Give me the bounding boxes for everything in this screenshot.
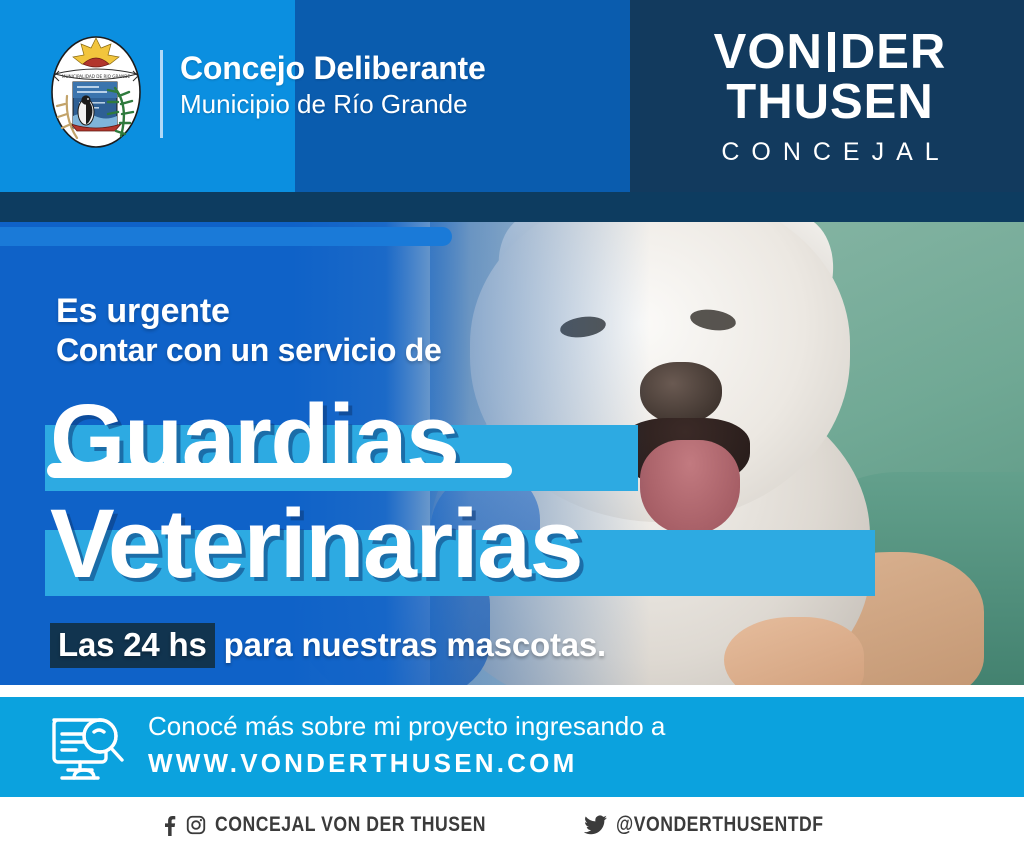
- brand-logo: VONDER THUSEN CONCEJAL: [665, 28, 995, 167]
- header-subtitle: Municipio de Río Grande: [180, 90, 610, 120]
- hero-subline-highlight: Las 24 hs: [50, 623, 215, 668]
- header-bottom-strip: [0, 192, 1024, 222]
- footer-white-divider-bar: [47, 463, 512, 478]
- monitor-search-icon: [48, 708, 128, 786]
- brand-line-3: CONCEJAL: [665, 138, 995, 167]
- social-handle-facebook-instagram[interactable]: CONCEJAL VON DER THUSEN: [215, 813, 486, 837]
- cta-text-block: Conocé más sobre mi proyecto ingresando …: [148, 711, 665, 779]
- social-group-facebook-instagram[interactable]: CONCEJAL VON DER THUSEN: [161, 813, 538, 837]
- cta-line-1: Conocé más sobre mi proyecto ingresando …: [148, 711, 665, 742]
- photo-dog-tongue: [640, 440, 740, 535]
- header-title: Concejo Deliberante: [180, 52, 610, 86]
- facebook-icon[interactable]: [161, 814, 177, 836]
- header-titles: Concejo Deliberante Municipio de Río Gra…: [180, 52, 610, 119]
- social-group-twitter[interactable]: @VONDERTHUSENTDF: [583, 813, 863, 837]
- photo-dog-nose: [640, 362, 722, 424]
- social-handle-twitter[interactable]: @VONDERTHUSENTDF: [616, 813, 824, 837]
- header-bar: MUNICIPALIDAD DE RIO GRANDE: [0, 0, 1024, 205]
- cta-website-url[interactable]: WWW.VONDERTHUSEN.COM: [148, 748, 665, 779]
- brand-von: VON: [714, 25, 823, 79]
- instagram-icon[interactable]: [185, 814, 207, 836]
- rio-grande-coat-of-arms-icon: MUNICIPALIDAD DE RIO GRANDE: [45, 30, 147, 150]
- photo-vet-hand: [724, 617, 864, 685]
- brand-divider-bar: [828, 32, 835, 72]
- social-bar: CONCEJAL VON DER THUSEN @VONDERTHUSENTDF: [0, 797, 1024, 853]
- brand-line-2: THUSEN: [665, 78, 995, 128]
- header-divider: [160, 50, 163, 138]
- hero-kicker: Es urgente: [56, 294, 230, 329]
- hero-accent-bar: [0, 227, 452, 246]
- poster-canvas: MUNICIPALIDAD DE RIO GRANDE: [0, 0, 1024, 853]
- hero-subline: Las 24 hs para nuestras mascotas.: [50, 626, 606, 664]
- hero-headline-line-2: Veterinarias: [50, 495, 582, 592]
- hero-section: Es urgente Contar con un servicio de Gua…: [0, 222, 1024, 685]
- hero-subline-rest: para nuestras mascotas.: [215, 626, 606, 663]
- brand-der: DER: [840, 25, 946, 79]
- svg-text:MUNICIPALIDAD DE RIO GRANDE: MUNICIPALIDAD DE RIO GRANDE: [62, 74, 131, 79]
- brand-line-1: VONDER: [665, 28, 995, 76]
- twitter-icon[interactable]: [583, 815, 608, 836]
- cta-band: Conocé más sobre mi proyecto ingresando …: [0, 697, 1024, 797]
- hero-kicker-secondary: Contar con un servicio de: [56, 334, 441, 367]
